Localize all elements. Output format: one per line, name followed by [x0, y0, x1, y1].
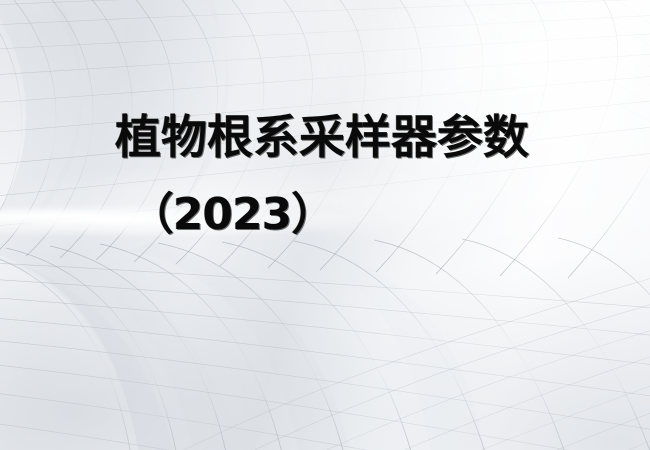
slide-title-line-2: （2023）	[0, 184, 650, 246]
slide-title-block: 植物根系采样器参数 （2023）	[0, 106, 650, 246]
slide-title-line-1: 植物根系采样器参数	[0, 106, 650, 168]
presentation-slide: 植物根系采样器参数 （2023）	[0, 0, 650, 450]
